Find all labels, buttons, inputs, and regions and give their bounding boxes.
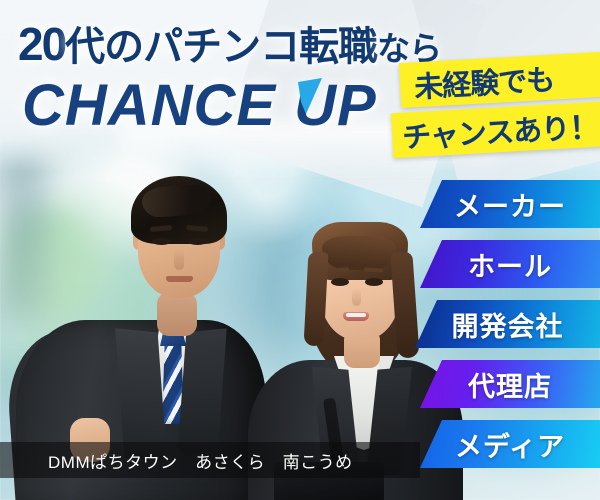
credit-bar: DMMぱちタウン あさくら 南こうめ <box>0 442 420 478</box>
headline-number: 20 <box>18 18 65 70</box>
headline: 20代のパチンコ転職なら <box>18 14 441 72</box>
businessman-neck <box>157 292 197 336</box>
badge-2-text: チャンスあり <box>401 105 570 156</box>
category-button-agency[interactable]: 代理店 <box>420 360 600 408</box>
businesswoman-eye-right <box>365 278 383 286</box>
category-button-developer[interactable]: 開発会社 <box>415 300 600 348</box>
businesswoman-nose <box>352 288 361 306</box>
category-label-hall: ホール <box>468 245 552 284</box>
businessman-eye-right <box>188 238 207 245</box>
promo-banner: 20代のパチンコ転職なら CHANCEUP 未経験でも チャンスあり！ メーカー… <box>0 0 600 500</box>
credit-text: DMMぱちタウン あさくら 南こうめ <box>48 448 353 473</box>
logo-word-up-wrap: UP <box>294 72 377 139</box>
logo-word-chance: CHANCE <box>22 73 276 138</box>
businessman-eye-left <box>152 238 171 245</box>
category-button-hall[interactable]: ホール <box>420 240 600 288</box>
businesswoman-bangs <box>322 236 396 270</box>
businesswoman-eye-left <box>331 278 349 286</box>
category-button-media[interactable]: メディア <box>420 420 600 468</box>
category-label-maker: メーカー <box>454 185 566 224</box>
category-label-media: メディア <box>455 425 565 464</box>
businesswoman-teeth <box>346 313 366 317</box>
businessman-nose <box>174 248 184 270</box>
badge-2-exclamation: ！ <box>568 102 600 149</box>
businessman-mouth <box>166 276 193 282</box>
badge-1-text: 未経験でも <box>413 56 555 106</box>
category-button-maker[interactable]: メーカー <box>420 180 600 228</box>
logo-wordmark: CHANCEUP <box>22 72 377 139</box>
headline-main: 代のパチンコ転職 <box>65 25 377 69</box>
category-label-agency: 代理店 <box>468 365 552 404</box>
logo-word-up: UP <box>294 73 377 138</box>
category-label-developer: 開発会社 <box>452 305 564 344</box>
